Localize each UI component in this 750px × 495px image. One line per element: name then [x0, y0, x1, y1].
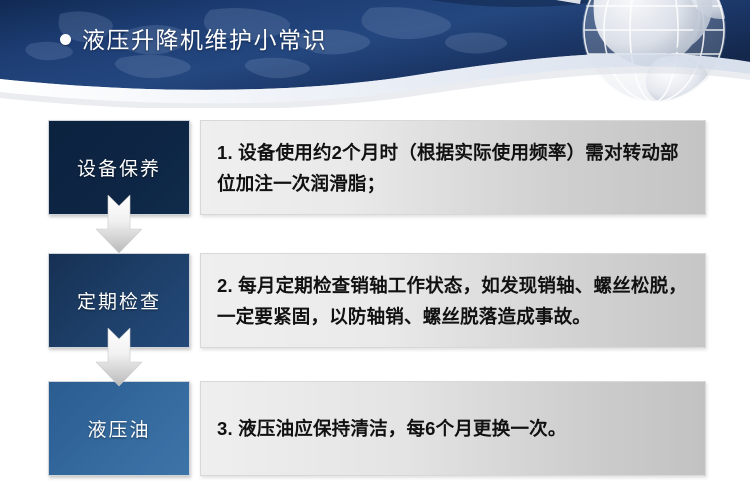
label-box-2-text: 定期检查 [77, 287, 161, 314]
label-box-hydraulic-oil[interactable]: 液压油 [48, 381, 190, 476]
label-box-1-text: 设备保养 [77, 154, 161, 181]
content-box-2-text: 2. 每月定期检查销轴工作状态，如发现销轴、螺丝松脱，一定要紧固，以防轴销、螺丝… [217, 270, 691, 332]
down-arrow-icon-1 [96, 195, 142, 257]
content-box-3-text: 3. 液压油应保持清洁，每6个月更换一次。 [217, 413, 567, 444]
header-banner: 液压升降机维护小常识 [0, 0, 750, 108]
content-box-1: 1. 设备使用约2个月时（根据实际使用频率）需对转动部位加注一次润滑脂； [200, 120, 706, 215]
title-bullet-icon [60, 34, 71, 45]
content-box-1-text: 1. 设备使用约2个月时（根据实际使用频率）需对转动部位加注一次润滑脂； [217, 137, 691, 199]
label-box-3-text: 液压油 [87, 415, 150, 442]
content-box-2: 2. 每月定期检查销轴工作状态，如发现销轴、螺丝松脱，一定要紧固，以防轴销、螺丝… [200, 253, 706, 348]
flow-row-3: 液压油 3. 液压油应保持清洁，每6个月更换一次。 [0, 381, 750, 476]
content-box-3: 3. 液压油应保持清洁，每6个月更换一次。 [200, 381, 706, 476]
down-arrow-icon-2 [96, 328, 142, 390]
page-title: 液压升降机维护小常识 [82, 21, 327, 55]
